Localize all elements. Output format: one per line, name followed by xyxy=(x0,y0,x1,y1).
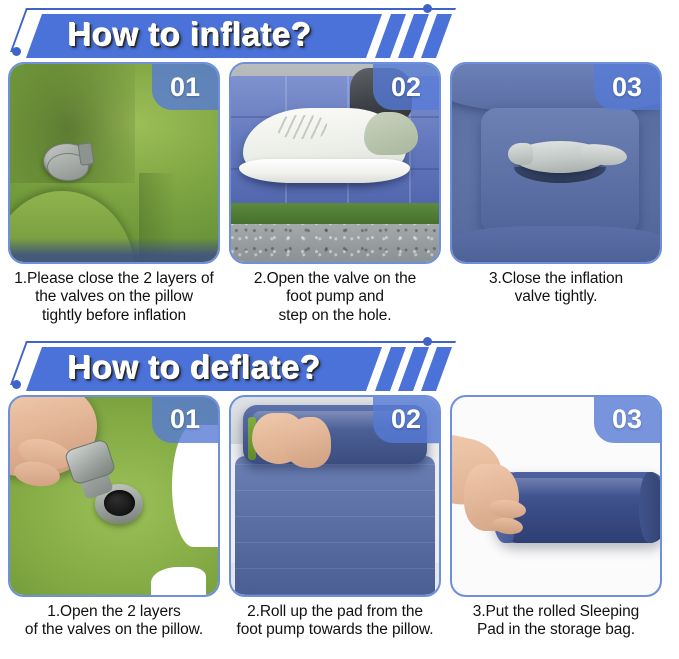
step-badge: 02 xyxy=(373,397,439,443)
right-hand xyxy=(285,417,331,468)
deflate-steps-row: 01 1.Open the 2 layers of the valves on … xyxy=(0,395,679,640)
step-caption: 2.Open the valve on the foot pump and st… xyxy=(229,270,441,325)
storage-bag-cinch-end xyxy=(639,472,660,543)
inflate-banner: How to inflate? xyxy=(0,0,679,62)
step-caption: 1.Please close the 2 layers of the valve… xyxy=(8,270,220,325)
deflate-banner: How to deflate? xyxy=(0,333,679,395)
deflate-banner-title: How to deflate? xyxy=(68,346,321,390)
banner-dot-left-icon xyxy=(12,47,21,56)
step-badge: 03 xyxy=(594,397,660,443)
rolled-pad-into-storage-bag-photo: 03 xyxy=(450,395,662,597)
inflate-step-2: 02 2.Open the valve on the foot pump and… xyxy=(229,62,441,325)
blue-underlayer xyxy=(10,238,218,262)
banner-dot-left-icon xyxy=(12,380,21,389)
step-badge: 01 xyxy=(152,397,218,443)
step-badge: 01 xyxy=(152,64,218,110)
white-background-right xyxy=(172,425,218,548)
deflate-step-1: 01 1.Open the 2 layers of the valves on … xyxy=(8,395,220,640)
step-caption: 3.Put the rolled Sleeping Pad in the sto… xyxy=(450,603,662,640)
pad-section-bottom xyxy=(452,226,660,262)
deflate-step-3: 03 3.Put the rolled Sleeping Pad in the … xyxy=(450,395,662,640)
hands-rolling-blue-pad-photo: 02 xyxy=(229,395,441,597)
step-badge: 03 xyxy=(594,64,660,110)
inflate-banner-title: How to inflate? xyxy=(68,13,312,57)
inflate-step-1: 01 1.Please close the 2 layers of the va… xyxy=(8,62,220,325)
blue-pad-inflation-valve-photo: 03 xyxy=(450,62,662,264)
step-badge: 02 xyxy=(373,64,439,110)
valve-tab xyxy=(77,142,94,166)
valve-cap-nub xyxy=(508,143,533,165)
banner-dot-right-icon xyxy=(423,4,432,13)
inflate-steps-row: 01 1.Please close the 2 layers of the va… xyxy=(0,62,679,325)
step-caption: 1.Open the 2 layers of the valves on the… xyxy=(8,603,220,640)
hand-opening-green-pad-valve-photo: 01 xyxy=(8,395,220,597)
sneaker-laces xyxy=(277,115,327,139)
green-pad-closed-valve-photo: 01 xyxy=(8,62,220,264)
sneaker-sole xyxy=(239,159,410,183)
green-pad-edge xyxy=(231,203,439,225)
roll-highlight xyxy=(502,478,648,496)
banner-dot-right-icon xyxy=(423,337,432,346)
step-caption: 2.Roll up the pad from the foot pump tow… xyxy=(229,603,441,640)
concrete-texture xyxy=(231,218,439,262)
pad-creases xyxy=(235,464,435,595)
shoe-on-foot-pump-photo: 02 xyxy=(229,62,441,264)
white-background-bottom xyxy=(151,567,205,595)
inflate-step-3: 03 3.Close the inflation valve tightly. xyxy=(450,62,662,325)
open-valve-hole xyxy=(104,490,135,516)
step-caption: 3.Close the inflation valve tightly. xyxy=(450,270,662,307)
deflate-step-2: 02 2.Roll up the pad from the foot pump … xyxy=(229,395,441,640)
